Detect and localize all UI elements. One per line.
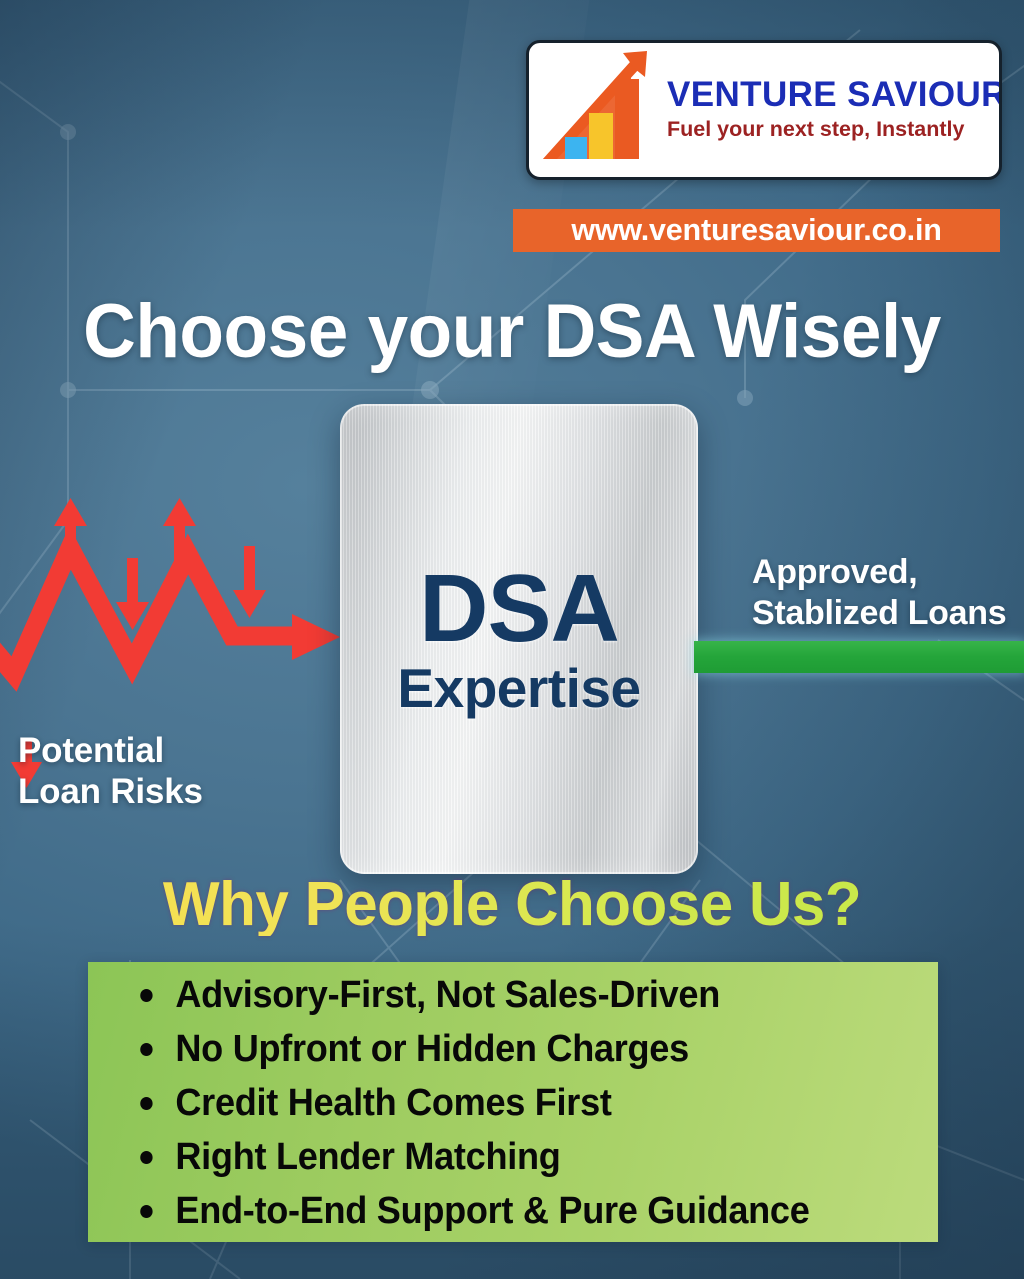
list-item: Right Lender Matching [88, 1138, 896, 1176]
brand-logo-card[interactable]: VENTURE SAVIOUR Fuel your next step, Ins… [526, 40, 1002, 180]
page-title: Choose your DSA Wisely [20, 294, 1003, 370]
list-item: Credit Health Comes First [88, 1084, 896, 1122]
brand-tagline: Fuel your next step, Instantly [667, 116, 1002, 143]
benefits-list: Advisory-First, Not Sales-Driven No Upfr… [88, 962, 938, 1230]
brand-name: VENTURE SAVIOUR [667, 77, 1002, 114]
approved-stabilized-loans-label: Approved, Stablized Loans [752, 552, 1024, 635]
website-url-banner[interactable]: www.venturesaviour.co.in [513, 209, 1000, 252]
green-stability-bar-icon [694, 641, 1024, 673]
website-url-text: www.venturesaviour.co.in [571, 213, 941, 248]
brand-logo-text: VENTURE SAVIOUR Fuel your next step, Ins… [667, 77, 1002, 144]
growth-bar-chart-arrow-icon [535, 51, 665, 169]
approved-label-line-2: Stablized Loans [752, 593, 1024, 634]
list-item: End-to-End Support & Pure Guidance [88, 1192, 896, 1230]
list-item: No Upfront or Hidden Charges [88, 1030, 896, 1068]
list-item: Advisory-First, Not Sales-Driven [88, 976, 896, 1014]
dsa-expertise-plaque: DSA Expertise [340, 404, 698, 874]
plaque-title: DSA [419, 562, 619, 656]
marketing-poster: VENTURE SAVIOUR Fuel your next step, Ins… [0, 0, 1024, 1279]
volatile-zigzag-arrow-icon [0, 496, 342, 696]
why-choose-us-title: Why People Choose Us? [15, 874, 1008, 936]
plaque-subtitle: Expertise [397, 661, 640, 716]
risk-label-line-1: Potential [18, 730, 308, 771]
risk-label-line-2: Loan Risks [18, 771, 308, 812]
potential-loan-risks-label: Potential Loan Risks [18, 730, 308, 813]
approved-label-line-1: Approved, [752, 552, 1024, 593]
benefits-panel: Advisory-First, Not Sales-Driven No Upfr… [88, 962, 938, 1242]
